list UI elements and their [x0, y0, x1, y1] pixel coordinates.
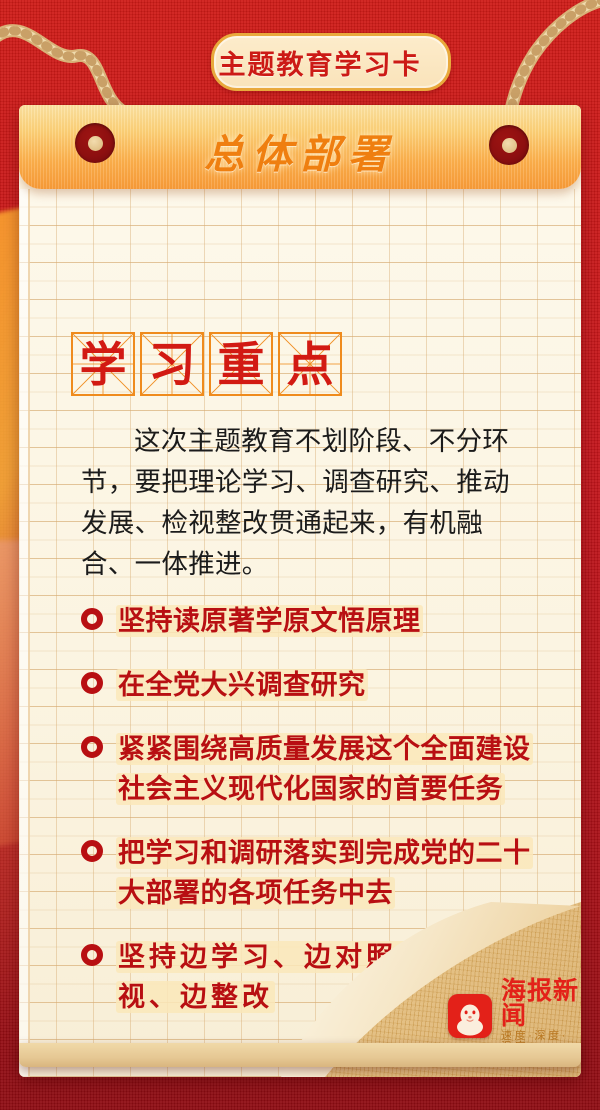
rope-eyelet-left-icon: [75, 123, 115, 163]
heading-char-box: 学: [71, 332, 135, 396]
list-item: 紧紧围绕高质量发展这个全面建设社会主义现代化国家的首要任务: [81, 729, 551, 809]
ring-bullet-icon: [81, 736, 103, 758]
card-bottom-edge: [19, 1043, 581, 1067]
header-title-pill[interactable]: 主题教育学习卡: [211, 33, 451, 91]
heading-char: 点: [287, 341, 334, 388]
brand-logo: 海报新闻 速度·深度·温度: [448, 979, 581, 1053]
list-item: 把学习和调研落实到完成党的二十大部署的各项任务中去: [81, 833, 551, 913]
logo-name: 海报新闻: [501, 979, 581, 1029]
list-item-text-wrap: 在全党大兴调查研究: [116, 665, 368, 705]
page-title: 主题教育学习卡: [219, 43, 422, 82]
heading-char: 重: [218, 341, 265, 388]
ring-bullet-icon: [81, 672, 103, 694]
ring-bullet-icon: [81, 840, 103, 862]
body-paragraph: 这次主题教育不划阶段、不分环节，要把理论学习、调查研究、推动发展、检视整改贯通起…: [81, 421, 529, 585]
heading-char-box: 重: [209, 332, 273, 396]
logo-text-block: 海报新闻 速度·深度·温度: [501, 979, 581, 1053]
list-item: 在全党大兴调查研究: [81, 665, 551, 705]
heading-char: 学: [80, 341, 127, 388]
ring-bullet-icon: [81, 944, 103, 966]
list-item-text: 紧紧围绕高质量发展这个全面建设社会主义现代化国家的首要任务: [116, 733, 533, 805]
content-card: 总体部署 学 习 重 点 这次主题教育不划阶段、不分环节，要把理论学习、调查研究…: [19, 105, 581, 1077]
section-heading: 学 习 重 点: [71, 332, 342, 396]
seal-mascot-icon: [448, 994, 492, 1038]
list-item-text-wrap: 坚持读原著学原文悟原理: [116, 601, 423, 641]
list-item-text-wrap: 把学习和调研落实到完成党的二十大部署的各项任务中去: [116, 833, 551, 913]
rope-eyelet-right-icon: [489, 125, 529, 165]
heading-char: 习: [149, 341, 196, 388]
heading-char-box: 习: [140, 332, 204, 396]
ring-bullet-icon: [81, 608, 103, 630]
section-banner: 总体部署: [19, 105, 581, 189]
list-item-text-wrap: 紧紧围绕高质量发展这个全面建设社会主义现代化国家的首要任务: [116, 729, 551, 809]
list-item: 坚持读原著学原文悟原理: [81, 601, 551, 641]
list-item-text: 坚持读原著学原文悟原理: [116, 605, 423, 637]
list-item-text: 在全党大兴调查研究: [116, 669, 368, 701]
heading-char-box: 点: [278, 332, 342, 396]
list-item-text: 把学习和调研落实到完成党的二十大部署的各项任务中去: [116, 837, 533, 909]
